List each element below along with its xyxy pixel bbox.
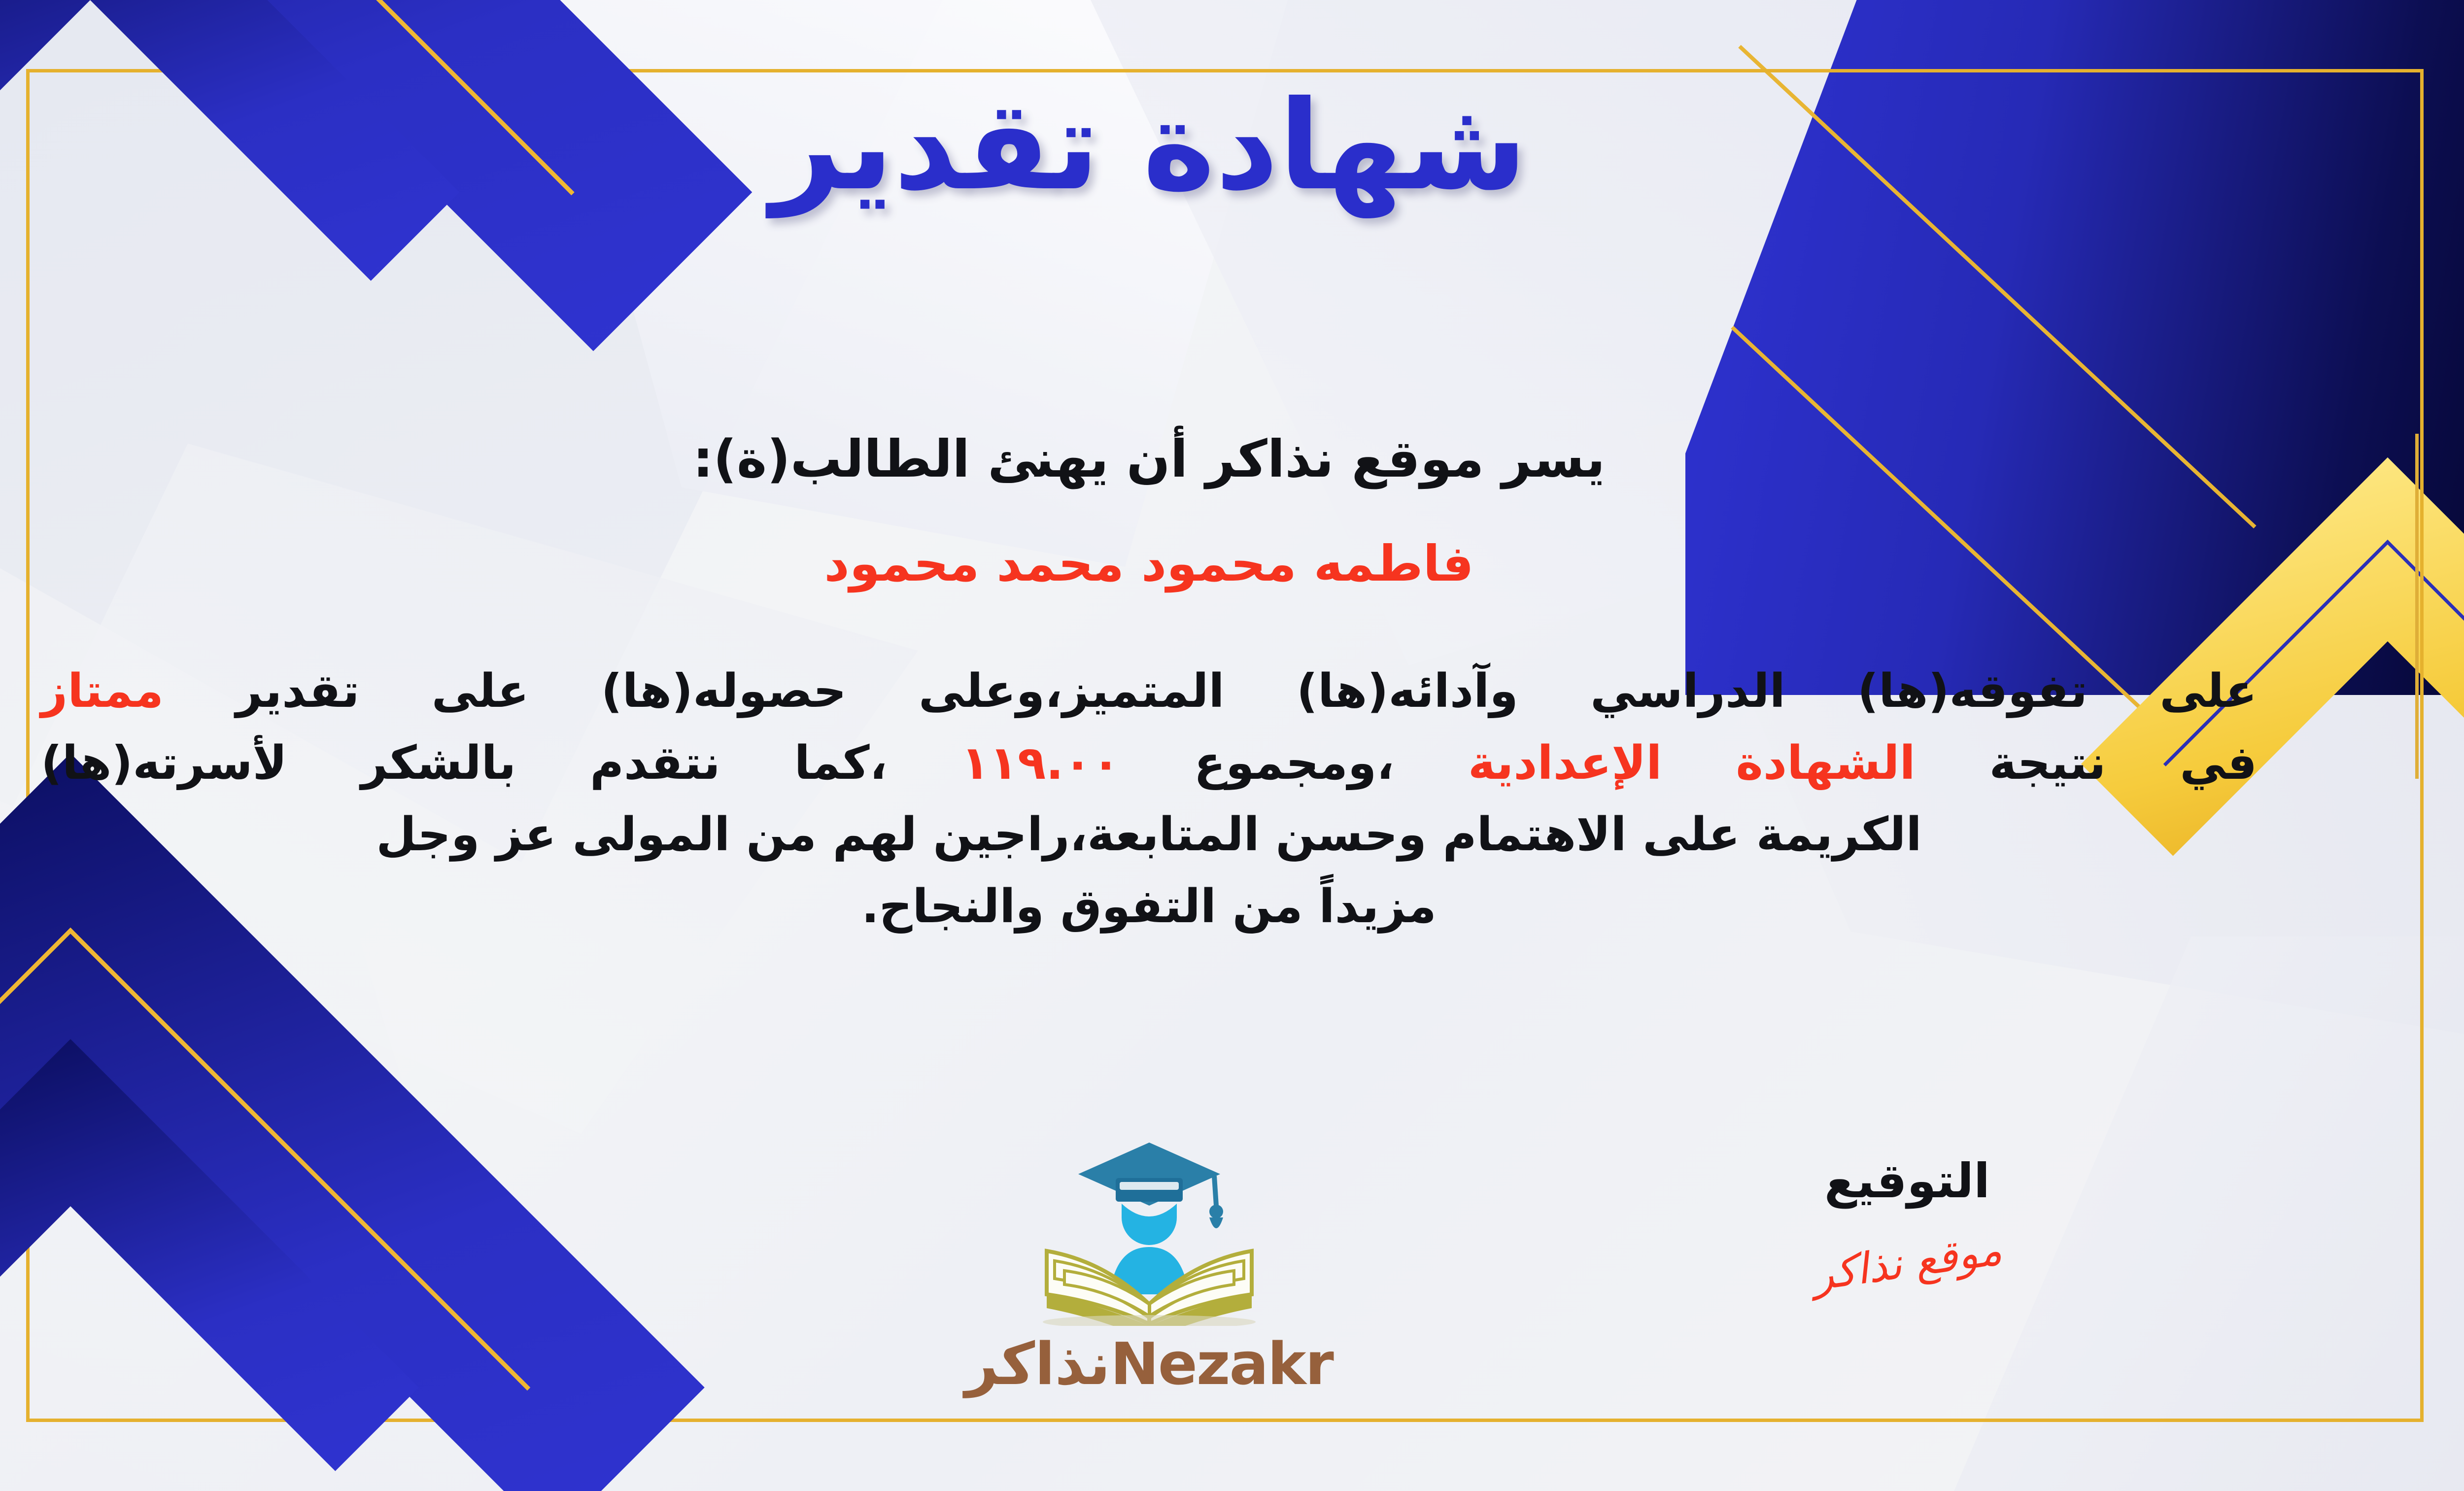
intro-line: يسر موقع نذاكر أن يهنئ الطالب(ة):: [0, 429, 2464, 489]
body-paragraph: على تفوقه(ها) الدراسي وآدائه(ها) المتميز…: [41, 656, 2257, 943]
tassel-fringe: [1209, 1217, 1223, 1228]
body-line-2-mid: ،ومجموع: [1194, 736, 1394, 790]
grade-value: ممتاز: [41, 664, 164, 718]
body-line-2: في نتيجة الشهادة الإعدادية ،ومجموع ١١٩.٠…: [41, 728, 2257, 799]
tassel-knot: [1209, 1205, 1223, 1218]
body-line-2-prefix: في نتيجة: [1989, 736, 2257, 790]
student-name: فاطمه محمود محمد محمود: [0, 535, 2464, 592]
brand-logo: Nezakrنذاكر: [0, 1129, 2464, 1398]
book-shadow: [1043, 1315, 1256, 1326]
body-line-2-suffix: ،كما نتقدم بالشكر لأسرته(ها): [41, 736, 887, 790]
certificate-canvas: شهادة تقدير يسر موقع نذاكر أن يهنئ الطال…: [0, 0, 2464, 1491]
exam-name: الشهادة الإعدادية: [1468, 736, 1916, 790]
tassel-cord: [1214, 1176, 1216, 1206]
page-title: شهادة تقدير: [0, 69, 2464, 223]
body-line-1-text: على تفوقه(ها) الدراسي وآدائه(ها) المتميز…: [236, 664, 2257, 718]
certificate-content: شهادة تقدير يسر موقع نذاكر أن يهنئ الطال…: [0, 0, 2464, 1491]
body-line-3: الكريمة على الاهتمام وحسن المتابعة،راجين…: [41, 799, 2257, 871]
graduate-head: [1122, 1204, 1177, 1245]
logo-wordmark: Nezakrنذاكر: [965, 1330, 1333, 1398]
total-score: ١١٩.٠٠: [961, 736, 1120, 790]
mortarboard-band-stripe: [1120, 1182, 1179, 1190]
body-line-1: على تفوقه(ها) الدراسي وآدائه(ها) المتميز…: [41, 656, 2257, 728]
graduate-book-logo-icon: [962, 1129, 1336, 1326]
body-line-4: مزيداً من التفوق والنجاح.: [41, 871, 2257, 943]
